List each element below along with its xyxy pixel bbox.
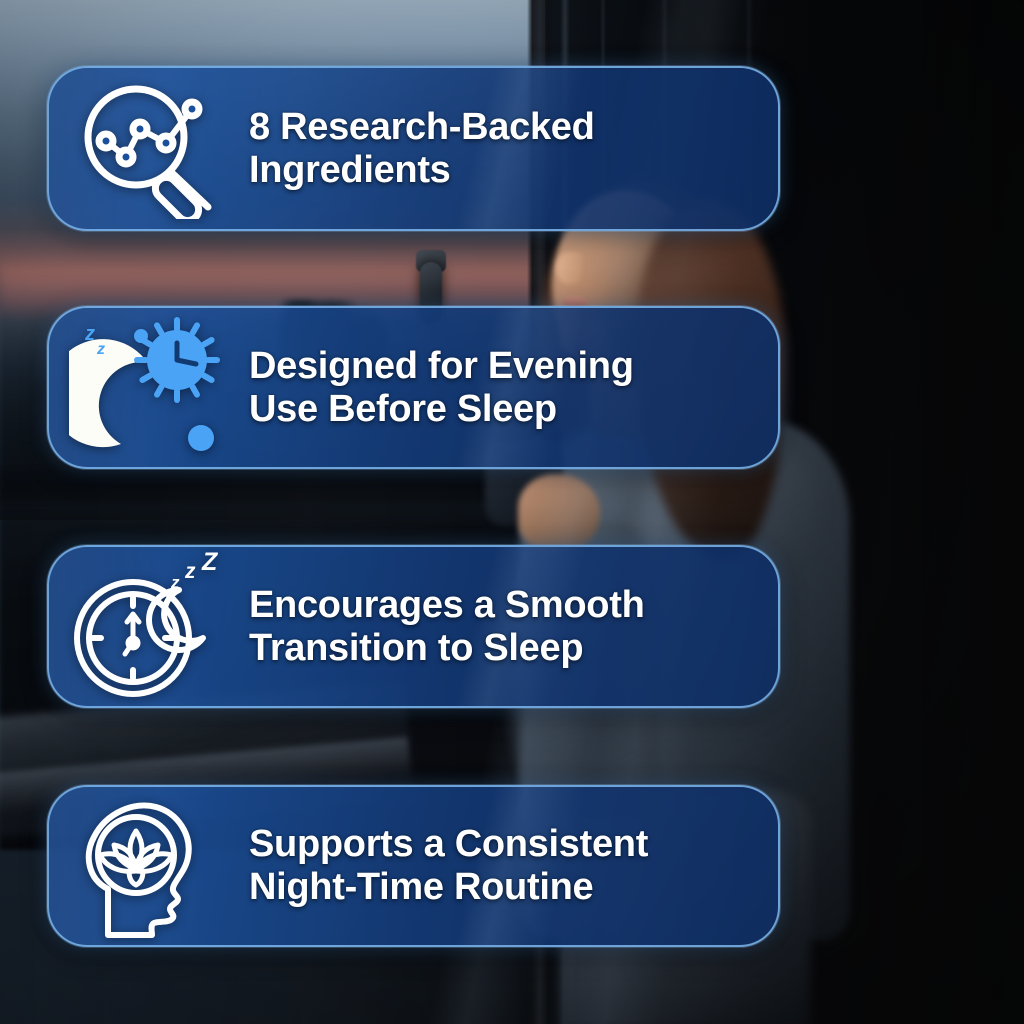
benefit-line-1: Designed for Evening [249,345,756,388]
benefit-card-smooth-transition-to-sleep[interactable]: z z Z Encourages a Smooth Transition to … [47,545,780,708]
benefit-card-consistent-night-time-routine[interactable]: Supports a Consistent Night-Time Routine [47,785,780,947]
infographic-canvas: 8 Research-Backed Ingredients [0,0,1024,1024]
moon-clock-zzz-icon: z z [49,308,249,467]
svg-text:z: z [170,573,180,592]
benefit-line-2: Transition to Sleep [249,627,756,670]
benefit-line-2: Ingredients [249,149,756,192]
svg-text:z: z [84,323,95,345]
benefit-line-1: 8 Research-Backed [249,106,756,149]
svg-text:Z: Z [201,552,219,576]
woman-nose [556,252,582,284]
benefit-card-evening-use-before-sleep[interactable]: z z Designed for Evening Use Before Slee… [47,306,780,469]
benefit-line-2: Night-Time Routine [249,866,756,909]
benefit-line-1: Supports a Consistent [249,823,756,866]
woman-hand [518,474,600,552]
svg-text:z: z [96,341,105,358]
clock-moon-zzz-icon: z z Z [49,547,249,706]
benefit-line-2: Use Before Sleep [249,388,756,431]
benefit-card-text: 8 Research-Backed Ingredients [249,106,778,191]
benefit-card-text: Encourages a Smooth Transition to Sleep [249,584,778,669]
benefit-card-text: Designed for Evening Use Before Sleep [249,345,778,430]
svg-text:z: z [184,560,196,583]
benefit-card-text: Supports a Consistent Night-Time Routine [249,823,778,908]
benefit-card-research-backed-ingredients[interactable]: 8 Research-Backed Ingredients [47,66,780,231]
magnifier-chart-icon [49,68,249,229]
head-lotus-icon [49,787,249,945]
benefit-line-1: Encourages a Smooth [249,584,756,627]
